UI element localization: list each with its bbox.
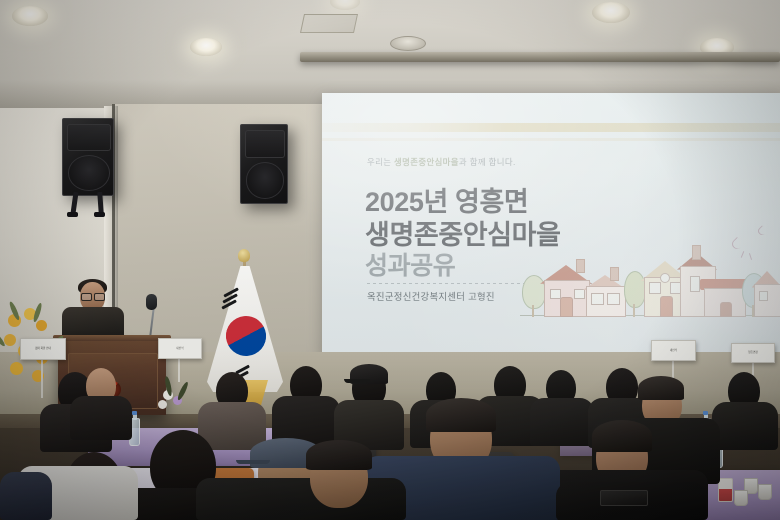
photo-scene: 우리는 생명존중안심마을과 함께 합니다. 2025년 영흥면 생명존중안심마을… (0, 0, 780, 520)
ceiling-downlight (592, 2, 630, 23)
audience-body (530, 398, 594, 446)
ceiling-access-panel (300, 14, 358, 33)
slide-tagline: 우리는 생명존중안심마을과 함께 합니다. (367, 156, 516, 168)
slide-presenter-line: 옥진군정신건강복지센터 고형진 (367, 289, 495, 303)
speaker-woofer (68, 155, 110, 190)
slide-tagline-highlight: 생명존중안심마을 (394, 157, 459, 167)
paper-cup (734, 490, 748, 506)
hair (426, 398, 496, 432)
illustration-heart (756, 225, 767, 236)
jacket-patch (600, 490, 648, 506)
projection-screen: 우리는 생명존중안심마을과 함께 합니다. 2025년 영흥면 생명존중안심마을… (322, 93, 780, 355)
microphone-head (146, 294, 157, 310)
hair (592, 420, 652, 452)
slide-accent-band-thin (322, 138, 780, 141)
sign-table-right-1-label: 내빈석 (670, 349, 677, 353)
illustration-house (586, 275, 624, 317)
projector-screen-roller (300, 52, 780, 62)
table-flower (158, 400, 167, 409)
ceiling-downlight (12, 6, 48, 26)
speaker-woofer (246, 162, 285, 198)
cap-brim (344, 379, 370, 383)
hair (638, 376, 684, 400)
cap-brim (236, 460, 270, 464)
speaker-horn (67, 124, 111, 152)
ceiling-vent (390, 36, 426, 51)
presenter-glasses (81, 293, 104, 299)
illustration-chimney (576, 259, 585, 273)
speaker-bracket-foot (67, 212, 78, 217)
pa-speaker-right (240, 124, 288, 204)
audience-body (0, 472, 52, 520)
pa-speaker-left (62, 118, 114, 196)
sign-table-right-2: 영흥면장 (731, 343, 775, 363)
sign-table-right-2-label: 영흥면장 (748, 351, 758, 355)
sign-left-stand: 캕하 화환 안내 (20, 338, 66, 360)
illustration-spark (749, 253, 752, 260)
sign-left-stand-label: 캕하 화환 안내 (35, 347, 51, 351)
illustration-heart (730, 237, 744, 251)
audience-body (70, 396, 132, 440)
illustration-spark (741, 251, 745, 258)
sign-table-right-1: 내빈석 (651, 340, 696, 361)
illustration-house (704, 279, 744, 317)
audience-body (196, 478, 406, 520)
ceiling-downlight (190, 38, 222, 56)
sign-table-center: 내빈석 (158, 338, 202, 359)
hair (306, 440, 372, 470)
illustration-house (754, 271, 780, 317)
sign-stand-pole (41, 356, 43, 398)
slide-tagline-suffix: 과 함께 합니다. (459, 157, 516, 167)
speaker-bracket-foot (94, 212, 105, 217)
paper-cup (758, 484, 772, 500)
slide-accent-band (322, 123, 780, 132)
audience-body (712, 402, 778, 450)
illustration-chimney (692, 245, 701, 260)
speaker-horn (245, 130, 286, 159)
presentation-slide: 우리는 생명존중안심마을과 함께 합니다. 2025년 영흥면 생명존중안심마을… (322, 93, 780, 355)
slide-tagline-prefix: 우리는 (367, 157, 394, 167)
sign-stand-pole (178, 356, 180, 382)
juice-carton (718, 478, 733, 502)
sign-table-center-label: 내빈석 (176, 347, 183, 351)
flag-finial (238, 249, 250, 262)
illustration-chimney (610, 267, 619, 281)
illustration-tree (522, 275, 544, 317)
slide-title-line-3: 성과공유 (365, 246, 455, 282)
illustration-tree (624, 271, 644, 317)
